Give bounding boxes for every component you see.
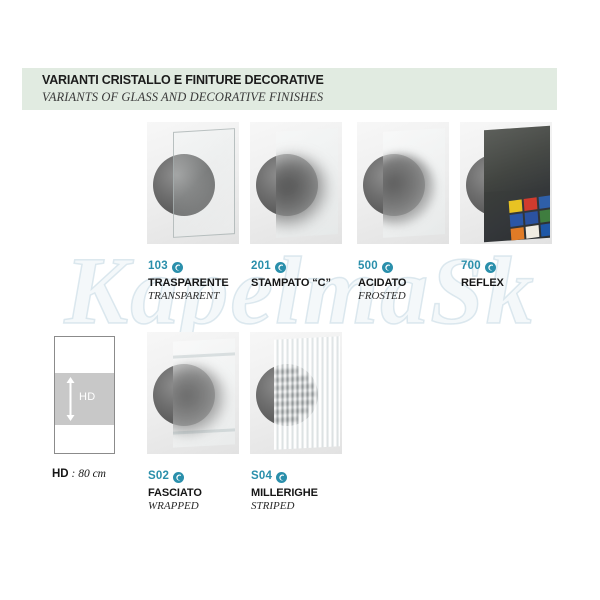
page-title: VARIANTI CRISTALLO E FINITURE DECORATIVE [42, 73, 324, 87]
swatch-name-en: STRIPED [251, 500, 318, 512]
pane-sheen [484, 126, 550, 192]
swatch-label-S04: S04 MILLERIGHE STRIPED [251, 468, 318, 512]
code-row: 500 [358, 258, 406, 273]
glass-pane-reflective [484, 126, 550, 243]
swatch-photo-700[interactable] [460, 122, 552, 244]
checker-square [511, 227, 525, 241]
checker-square [509, 199, 523, 213]
page-subtitle: VARIANTS OF GLASS AND DECORATIVE FINISHE… [42, 90, 323, 105]
swatch-photo-201[interactable] [250, 122, 342, 244]
swatch-code: 700 [461, 260, 481, 272]
glass-pane-patterned [276, 128, 338, 238]
diffused-sphere [276, 155, 328, 230]
swatch-photo-500[interactable] [357, 122, 449, 244]
swirl-circle-icon [275, 260, 286, 271]
hd-caption-bold: HD [52, 468, 69, 480]
swatch-name-it: TRASPARENTE [148, 277, 229, 289]
glass-pane-clear [173, 128, 235, 238]
hd-caption: HD : 80 cm [52, 468, 106, 480]
hd-caption-value: : 80 cm [69, 468, 106, 480]
swatch-name-it: REFLEX [461, 277, 504, 289]
swatch-code: S04 [251, 470, 272, 482]
swatch-name-it: ACIDATO [358, 277, 406, 289]
swatch-photo-S04[interactable] [250, 332, 342, 454]
hd-double-arrow-icon [66, 377, 75, 421]
swatch-name-it: MILLERIGHE [251, 487, 318, 499]
document-page: VARIANTI CRISTALLO E FINITURE DECORATIVE… [0, 0, 600, 600]
swatch-label-700: 700 REFLEX [461, 258, 504, 290]
checker-square [510, 213, 524, 227]
code-row: S02 [148, 468, 202, 483]
swatch-label-201: 201 STAMPATO “C” [251, 258, 331, 290]
swatch-name-en: WRAPPED [148, 500, 202, 512]
checker-square [525, 211, 539, 225]
swatch-label-500: 500 ACIDATO FROSTED [358, 258, 406, 302]
swirl-circle-icon [485, 260, 496, 271]
wrap-band [173, 352, 235, 358]
swatch-name-en: FROSTED [358, 290, 406, 302]
diffused-sphere [383, 153, 435, 227]
code-row: S04 [251, 468, 318, 483]
code-row: 700 [461, 258, 504, 273]
stripe-overlay [274, 336, 340, 449]
swatch-photo-103[interactable] [147, 122, 239, 244]
checker-square [540, 209, 550, 223]
hd-inner-label: HD [79, 391, 96, 403]
checker-square [524, 197, 538, 211]
swatch-photo-S02[interactable] [147, 332, 239, 454]
swatch-code: 500 [358, 260, 378, 272]
diffused-sphere [173, 365, 225, 437]
checker-square [526, 225, 540, 239]
swatch-code: S02 [148, 470, 169, 482]
swatch-name-it: STAMPATO “C” [251, 277, 331, 289]
swatch-code: 103 [148, 260, 168, 272]
swirl-circle-icon [172, 260, 183, 271]
color-checker-chart [508, 194, 550, 242]
swirl-circle-icon [382, 260, 393, 271]
swatch-code: 201 [251, 260, 271, 272]
glass-pane-frosted [383, 128, 445, 238]
swatch-name-en: TRANSPARENT [148, 290, 229, 302]
code-row: 103 [148, 258, 229, 273]
code-row: 201 [251, 258, 331, 273]
swirl-circle-icon [173, 470, 184, 481]
checker-square [539, 195, 550, 209]
checker-square [541, 223, 550, 237]
glass-pane-striped [274, 336, 340, 449]
swatch-label-103: 103 TRASPARENTE TRANSPARENT [148, 258, 229, 302]
swirl-circle-icon [276, 470, 287, 481]
swatch-label-S02: S02 FASCIATO WRAPPED [148, 468, 202, 512]
swatch-name-it: FASCIATO [148, 487, 202, 499]
glass-pane-wrapped [173, 338, 235, 447]
hd-diagram: HD [54, 336, 115, 454]
